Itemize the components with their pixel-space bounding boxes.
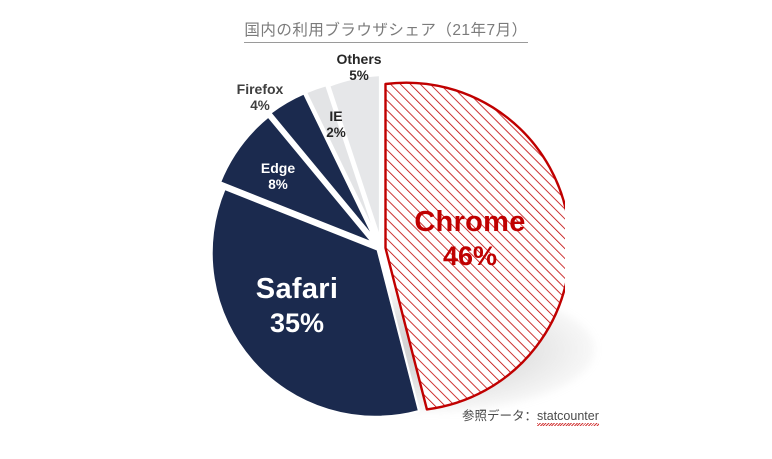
pie-slices-svg [205,72,565,432]
source-note-prefix: 参照データ： [462,409,537,423]
pie-label-others-name: Others [311,51,407,68]
source-note: 参照データ：statcounter [462,405,599,424]
source-note-name: statcounter [537,409,599,425]
chart-canvas: 国内の利用ブラウザシェア（21年7月） C [0,0,772,459]
pie-slice-chrome[interactable] [386,83,566,410]
pie-chart [205,72,565,432]
page-title: 国内の利用ブラウザシェア（21年7月） [0,18,772,40]
page-title-text: 国内の利用ブラウザシェア（21年7月） [244,22,527,43]
